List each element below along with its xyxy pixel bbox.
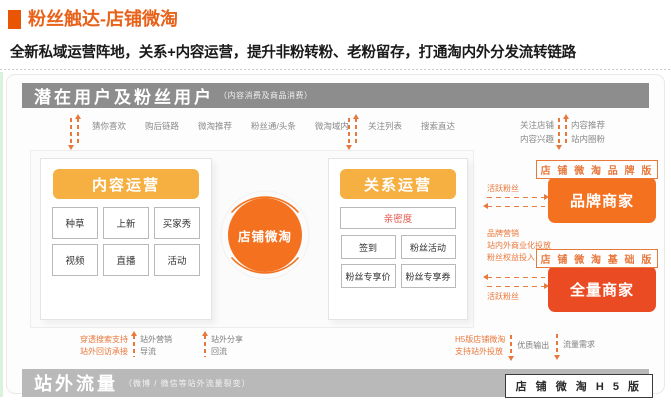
external-traffic-title: 站外流量 xyxy=(34,370,118,396)
intimacy-cell[interactable]: 亲密度 xyxy=(340,207,456,229)
page-title-row: 粉丝触达-店铺微淘 xyxy=(8,10,178,29)
flow-label: 关注店铺 xyxy=(520,120,554,131)
flow-label: 流量需求 xyxy=(563,339,595,351)
arrow-right-icon xyxy=(487,286,545,287)
potential-users-subtitle: （内容消费及商品消费） xyxy=(219,90,313,101)
basic-version-tag[interactable]: 店 铺 微 淘 基 础 版 xyxy=(536,249,658,268)
left-edge-accent xyxy=(0,72,3,397)
brand-merchant-box[interactable]: 品牌商家 xyxy=(548,177,656,223)
relation-cell[interactable]: 粉丝专享券 xyxy=(401,264,456,288)
external-traffic-subtitle: （微博 / 微信等站外流量裂变） xyxy=(124,378,251,389)
flow-label: 站内圈粉 xyxy=(571,134,605,145)
top-channel-labels: 猜你喜欢 购后链路 微淘推荐 粉丝通/头条 微淘域内 关注列表 搜索直达 xyxy=(92,120,455,132)
channel-label: 微淘域内 xyxy=(315,120,349,132)
top-right-right-labels: 内容推荐 站内圈粉 xyxy=(571,120,605,144)
channel-label: 搜索直达 xyxy=(421,120,455,132)
content-cell[interactable]: 直播 xyxy=(103,244,149,276)
channel-label: 粉丝通/头条 xyxy=(251,120,296,132)
arrow-down-icon xyxy=(556,334,558,356)
flow-label: 穿透搜索支持 xyxy=(80,334,128,346)
h5-version-tag[interactable]: 店 铺 微 淘 H 5 版 xyxy=(505,374,653,398)
relation-cell[interactable]: 粉丝专享价 xyxy=(341,264,396,288)
hub-label: 店铺微淘 xyxy=(238,226,292,245)
relation-cell[interactable]: 签到 xyxy=(341,235,396,259)
header-divider xyxy=(0,69,671,70)
basic-merchant-box[interactable]: 全量商家 xyxy=(548,266,656,312)
channel-label: 关注列表 xyxy=(368,120,402,132)
bottom-flow-right-labels: 流量需求 xyxy=(563,339,595,351)
page-title: 粉丝触达-店铺微淘 xyxy=(28,10,178,29)
top-left-arrow-pair xyxy=(70,118,79,146)
flow-label: 导流 xyxy=(140,346,172,358)
channel-label: 微淘推荐 xyxy=(198,120,232,132)
slide-root: 粉丝触达-店铺微淘 全新私域运营阵地，关系+内容运营，提升非粉转粉、老粉留存，打… xyxy=(0,0,671,401)
content-cell[interactable]: 买家秀 xyxy=(154,207,200,239)
bottom-flow-group-4: 流量需求 xyxy=(556,334,595,356)
flow-label: 内容推荐 xyxy=(571,120,605,131)
arrow-up-icon xyxy=(77,118,79,146)
bottom-flow-right-labels: 站外分享 回流 xyxy=(211,334,243,358)
bottom-flow-group-2: 站外分享 回流 xyxy=(204,334,243,358)
fan-benefit-label: 粉丝权益投入 xyxy=(487,252,535,264)
content-cell[interactable]: 视频 xyxy=(52,244,98,276)
bottom-flow-group-3: H5版店铺微淘 支持站外投放 优质输出 xyxy=(455,334,549,358)
title-accent-bar xyxy=(8,10,21,29)
top-mid-arrow-pair xyxy=(348,118,357,146)
channel-label: 购后链路 xyxy=(145,120,179,132)
bottom-flow-right-labels: 站外营销 导流 xyxy=(140,334,172,358)
page-subtitle: 全新私域运营阵地，关系+内容运营，提升非粉转粉、老粉留存，打通淘内外分发流转链路 xyxy=(10,41,576,62)
arrow-left-icon xyxy=(487,206,545,207)
arrow-up-icon xyxy=(565,118,567,146)
flow-label: H5版店铺微淘 xyxy=(455,334,505,346)
potential-users-title: 潜在用户及粉丝用户 xyxy=(34,83,214,108)
relation-operations-panel: 关系运营 亲密度 签到 粉丝活动 粉丝专享价 粉丝专享券 xyxy=(328,158,468,320)
bottom-flow-left-labels: 穿透搜索支持 站外回访承接 xyxy=(80,334,128,358)
brand-marketing-label: 品牌营销 xyxy=(487,228,519,240)
flow-label: 回流 xyxy=(211,346,243,358)
content-cell[interactable]: 种草 xyxy=(52,207,98,239)
relation-operations-grid: 签到 粉丝活动 粉丝专享价 粉丝专享券 xyxy=(337,235,459,288)
arrow-down-icon xyxy=(70,118,72,146)
flow-label: 支持站外投放 xyxy=(455,346,505,358)
flow-label: 内容兴趣 xyxy=(520,134,554,145)
content-operations-title: 内容运营 xyxy=(53,169,199,199)
top-right-left-labels: 关注店铺 内容兴趣 xyxy=(520,120,554,144)
basic-flow-label: 活跃粉丝 xyxy=(487,291,519,303)
bottom-flow-group-1: 穿透搜索支持 站外回访承接 站外营销 导流 xyxy=(80,334,172,358)
bottom-flow-right-labels: 优质输出 xyxy=(517,340,549,352)
arrow-down-icon xyxy=(558,118,560,146)
relation-cell[interactable]: 粉丝活动 xyxy=(401,235,456,259)
relation-operations-title: 关系运营 xyxy=(340,169,456,199)
arrow-down-icon xyxy=(510,335,512,357)
content-cell[interactable]: 活动 xyxy=(154,244,200,276)
channel-label: 猜你喜欢 xyxy=(92,120,126,132)
arrow-up-icon xyxy=(204,335,206,357)
top-right-flow-group: 关注店铺 内容兴趣 内容推荐 站内圈粉 xyxy=(520,118,605,146)
hub-circle[interactable]: 店铺微淘 xyxy=(228,198,302,272)
top-right-arrow-pair xyxy=(558,118,567,146)
bottom-flow-left-labels: H5版店铺微淘 支持站外投放 xyxy=(455,334,505,358)
arrow-up-icon xyxy=(355,118,357,146)
flow-label: 站外分享 xyxy=(211,334,243,346)
arrow-up-icon xyxy=(133,335,135,357)
flow-label: 站外营销 xyxy=(140,334,172,346)
arrow-down-icon xyxy=(348,118,350,146)
content-operations-panel: 内容运营 种草 上新 买家秀 视频 直播 活动 xyxy=(40,158,212,320)
flow-label: 站外回访承接 xyxy=(80,346,128,358)
content-operations-grid: 种草 上新 买家秀 视频 直播 活动 xyxy=(41,207,211,276)
content-cell[interactable]: 上新 xyxy=(103,207,149,239)
brand-flow-label: 活跃粉丝 xyxy=(487,183,519,195)
arrow-left-icon xyxy=(487,277,545,278)
potential-users-band: 潜在用户及粉丝用户 （内容消费及商品消费） xyxy=(22,83,649,108)
arrow-right-icon xyxy=(487,197,545,198)
flow-label: 优质输出 xyxy=(517,340,549,352)
brand-version-tag[interactable]: 店 铺 微 淘 品 牌 版 xyxy=(536,160,658,179)
